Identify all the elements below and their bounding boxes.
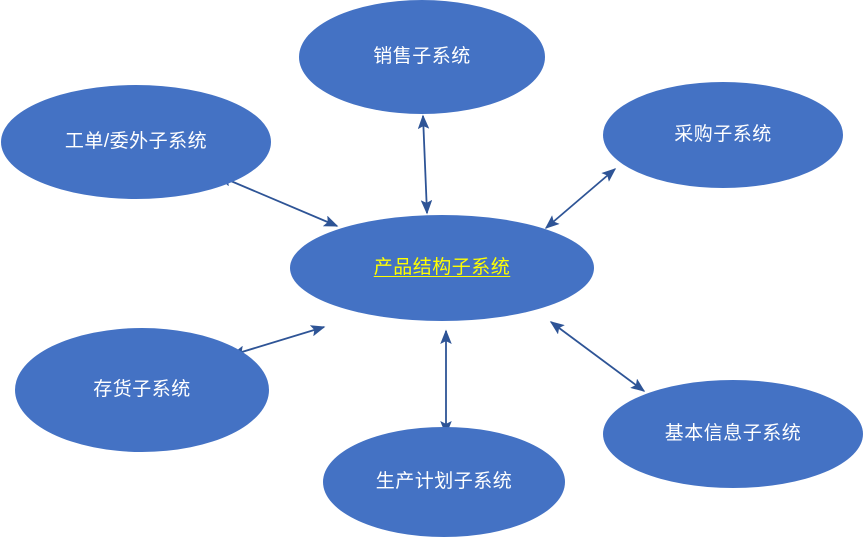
node-label-basic-info: 基本信息子系统 [665, 423, 802, 446]
node-inventory[interactable]: 存货子系统 [15, 328, 269, 452]
connector-center-procurement[interactable] [546, 169, 615, 228]
node-procurement[interactable]: 采购子系统 [603, 82, 843, 188]
connector-center-inventory[interactable] [232, 327, 324, 355]
node-label-production-plan: 生产计划子系统 [376, 471, 513, 494]
node-label-work-order: 工单/委外子系统 [65, 131, 207, 154]
node-label-sales: 销售子系统 [373, 46, 471, 69]
node-work-order[interactable]: 工单/委外子系统 [1, 85, 271, 199]
node-production-plan[interactable]: 生产计划子系统 [323, 427, 565, 537]
connector-center-sales[interactable] [423, 116, 427, 213]
connector-center-basic-info[interactable] [551, 322, 644, 391]
connector-center-work-order[interactable] [219, 176, 337, 226]
node-sales[interactable]: 销售子系统 [299, 0, 545, 114]
node-label-procurement: 采购子系统 [674, 124, 772, 147]
node-label-inventory: 存货子系统 [93, 379, 191, 402]
node-center[interactable]: 产品结构子系统 [290, 215, 594, 321]
node-basic-info[interactable]: 基本信息子系统 [603, 380, 863, 488]
node-label-center: 产品结构子系统 [374, 257, 511, 280]
diagram-canvas: 产品结构子系统销售子系统工单/委外子系统采购子系统存货子系统生产计划子系统基本信… [0, 0, 866, 530]
